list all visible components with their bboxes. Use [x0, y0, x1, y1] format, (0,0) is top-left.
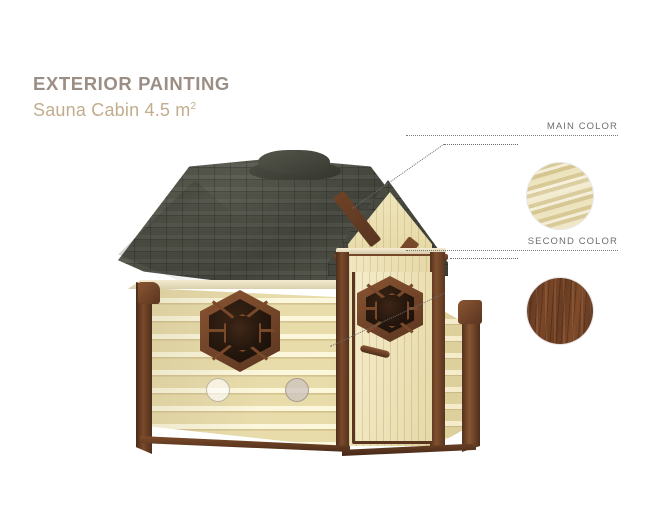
second-color-label: SECOND COLOR — [406, 236, 618, 247]
callout-second-color: SECOND COLOR — [406, 236, 618, 251]
main-color-label: MAIN COLOR — [406, 121, 618, 132]
page-title: EXTERIOR PAINTING — [33, 72, 230, 95]
leader-line-second-horizontal — [450, 258, 518, 259]
poster-canvas: EXTERIOR PAINTING Sauna Cabin 4.5 m2 — [0, 0, 650, 516]
page-subtitle-superscript: 2 — [191, 101, 197, 112]
hexagonal-window-wall — [200, 290, 280, 372]
roof-cap — [258, 150, 330, 174]
corner-post-right — [462, 302, 480, 452]
main-color-swatch[interactable] — [527, 163, 593, 229]
page-subtitle: Sauna Cabin 4.5 m2 — [33, 99, 230, 122]
corner-post-left — [136, 282, 152, 454]
page-subtitle-text: Sauna Cabin 4.5 m — [33, 100, 191, 120]
corner-post-right-corbel — [458, 300, 482, 324]
second-color-swatch[interactable] — [527, 278, 593, 344]
second-color-rule — [406, 250, 618, 251]
entrance-post-left — [336, 252, 349, 448]
entrance-post-right — [430, 252, 445, 450]
leader-line-main-horizontal — [444, 144, 518, 145]
callout-main-color: MAIN COLOR — [406, 121, 618, 136]
page-title-block: EXTERIOR PAINTING Sauna Cabin 4.5 m2 — [33, 72, 230, 123]
main-color-rule — [406, 135, 618, 136]
hexagonal-window-door — [357, 276, 423, 342]
corner-post-left-corbel — [138, 282, 160, 304]
wall-sample-dot — [206, 378, 230, 402]
post-sample-dot — [285, 378, 309, 402]
